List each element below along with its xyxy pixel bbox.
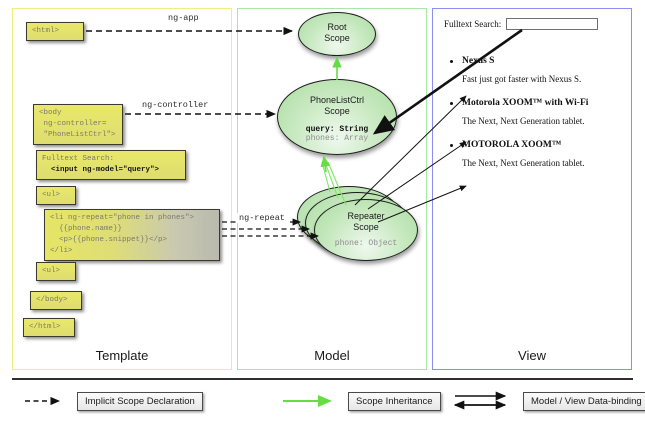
phone-snippet: The Next, Next Generation tablet. bbox=[462, 116, 624, 126]
view-content: Fulltext Search: Nexus S Fast just got f… bbox=[444, 18, 624, 168]
legend-divider bbox=[12, 378, 633, 380]
phone-snippet: The Next, Next Generation tablet. bbox=[462, 158, 624, 168]
code-li-line2: {{phone.name}} bbox=[50, 225, 122, 233]
bullet-icon bbox=[450, 144, 453, 147]
bullet-icon bbox=[450, 102, 453, 105]
phone-snippet: Fast just got faster with Nexus S. bbox=[462, 74, 624, 84]
phone-title: MOTOROLA XOOM™ bbox=[462, 140, 624, 150]
panel-label-view: View bbox=[433, 348, 631, 363]
code-box-input: Fulltext Search: <input ng-model="query"… bbox=[36, 150, 186, 180]
code-box-body-open: <body ng-controller= "PhoneListCtrl"> bbox=[33, 104, 123, 145]
code-li-line4: </li> bbox=[50, 247, 73, 255]
view-search-row: Fulltext Search: bbox=[444, 18, 624, 30]
list-item[interactable]: Nexus S Fast just got faster with Nexus … bbox=[444, 56, 624, 84]
scope-phonelistctrl: PhoneListCtrl Scope query: String phones… bbox=[277, 79, 397, 155]
scope-repeater-line2: Scope bbox=[353, 222, 379, 232]
scope-root-line2: Scope bbox=[324, 33, 350, 43]
bullet-icon bbox=[450, 60, 453, 63]
scope-repeater: Repeater Scope phone: Object bbox=[314, 199, 418, 261]
legend-item-data-binding: Model / View Data-binding bbox=[455, 390, 645, 412]
edge-label-ng-controller: ng-controller bbox=[140, 100, 210, 110]
scope-root-line1: Root bbox=[327, 22, 346, 32]
code-box-ul-open: <ul> bbox=[36, 186, 76, 205]
code-li-line1: <li ng-repeat="phone in phones"> bbox=[50, 214, 194, 222]
scope-root-title: Root Scope bbox=[299, 22, 375, 44]
phone-title: Motorola XOOM™ with Wi-Fi bbox=[462, 98, 624, 108]
diagram-canvas: Template Model View <html> <body ng-cont… bbox=[0, 0, 645, 425]
legend-label: Model / View Data-binding bbox=[523, 392, 645, 411]
scope-repeater-title: Repeater Scope bbox=[315, 200, 417, 233]
code-box-ul-close: <ul> bbox=[36, 262, 76, 281]
code-li-line3: <p>{{phone.snippet}}</p> bbox=[50, 236, 167, 244]
scope-root: Root Scope bbox=[298, 12, 376, 56]
scope-var-query: query: String bbox=[278, 125, 396, 135]
legend-label: Scope Inheritance bbox=[348, 392, 441, 411]
code-box-html-open: <html> bbox=[26, 22, 84, 41]
scope-repeater-vars: phone: Object bbox=[315, 239, 417, 249]
legend-item-scope-inheritance: Scope Inheritance bbox=[283, 390, 441, 412]
legend-item-implicit-scope: Implicit Scope Declaration bbox=[25, 390, 203, 412]
panel-label-model: Model bbox=[238, 348, 426, 363]
code-input-label: Fulltext Search: bbox=[42, 155, 114, 163]
view-phone-list: Nexus S Fast just got faster with Nexus … bbox=[444, 56, 624, 168]
code-box-html-close: </html> bbox=[23, 318, 75, 337]
code-input-code: <input ng-model="query"> bbox=[51, 166, 159, 174]
scope-ctrl-vars: query: String phones: Array bbox=[278, 125, 396, 144]
edge-label-ng-app: ng-app bbox=[166, 13, 201, 23]
scope-ctrl-title: PhoneListCtrl Scope bbox=[278, 95, 396, 117]
panel-label-template: Template bbox=[13, 348, 231, 363]
phone-title: Nexus S bbox=[462, 56, 624, 66]
code-box-li-repeat: <li ng-repeat="phone in phones"> {{phone… bbox=[44, 209, 220, 261]
scope-ctrl-line1: PhoneListCtrl bbox=[310, 95, 364, 105]
edge-label-ng-repeat: ng-repeat bbox=[237, 213, 287, 223]
scope-var-phone: phone: Object bbox=[315, 239, 417, 249]
scope-ctrl-line2: Scope bbox=[324, 106, 350, 116]
view-search-label: Fulltext Search: bbox=[444, 19, 501, 29]
list-item[interactable]: MOTOROLA XOOM™ The Next, Next Generation… bbox=[444, 140, 624, 168]
list-item[interactable]: Motorola XOOM™ with Wi-Fi The Next, Next… bbox=[444, 98, 624, 126]
scope-var-phones: phones: Array bbox=[278, 134, 396, 144]
search-input[interactable] bbox=[506, 18, 598, 30]
code-box-body-close: </body> bbox=[30, 291, 82, 310]
scope-repeater-line1: Repeater bbox=[347, 211, 384, 221]
legend-label: Implicit Scope Declaration bbox=[77, 392, 203, 411]
